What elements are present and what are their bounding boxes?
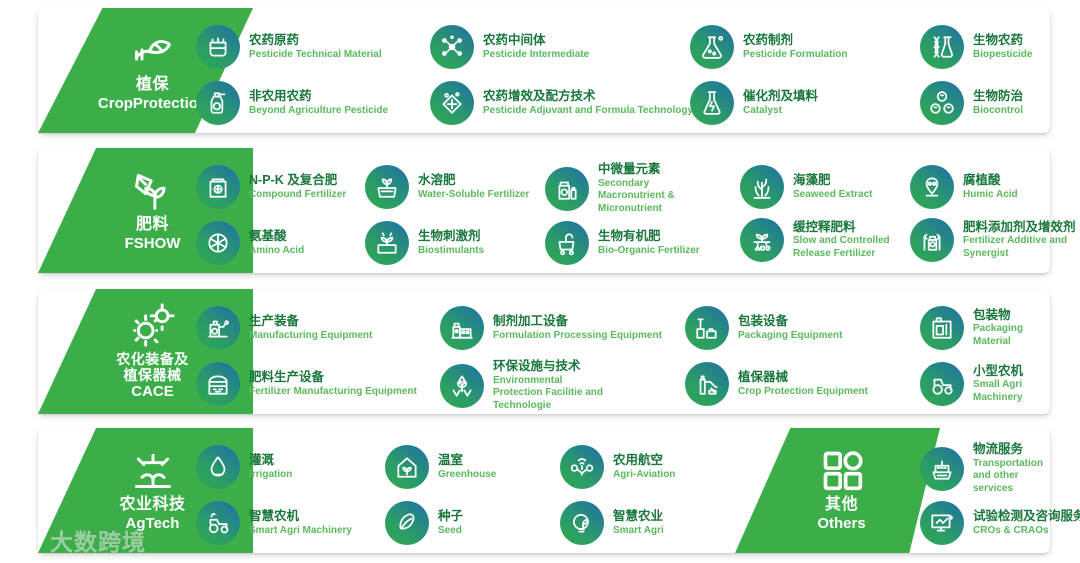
item-text: 生物有机肥Bio-Organic Fertilizer	[598, 229, 700, 257]
category-item[interactable]: 肥料添加剂及增效剂Fertilizer Additive and Synergi…	[910, 218, 1076, 262]
category-name-en: CACE	[131, 383, 174, 401]
category-row: 农业科技AgTech其他Others灌溉Irrigation温室Greenhou…	[0, 428, 1080, 553]
item-label-en: Biostimulants	[418, 245, 484, 258]
slow-release-icon	[740, 218, 784, 262]
processing-plant-icon	[440, 306, 484, 350]
item-label-cn: 农用航空	[613, 453, 675, 469]
row-card: 农业科技AgTech其他Others灌溉Irrigation温室Greenhou…	[38, 428, 1050, 553]
organic-cart-icon	[545, 221, 589, 265]
row-card: 植保CropProtection农药原药Pesticide Technical …	[38, 8, 1050, 133]
flask-icon	[690, 25, 734, 69]
category-name-cn: 农化装备及	[116, 351, 189, 367]
item-label-en: Amino Acid	[249, 245, 304, 258]
item-label-cn: 肥料添加剂及增效剂	[963, 220, 1076, 236]
item-text: 肥料添加剂及增效剂Fertilizer Additive and Synergi…	[963, 220, 1076, 261]
item-label-en: Smart Agri	[613, 525, 664, 538]
beaker-pesticide-icon	[196, 25, 240, 69]
category-name-en: CropProtection	[98, 95, 207, 113]
fertilizer-plant-icon	[196, 362, 240, 406]
category-item[interactable]: 小型农机Small Agri Machinery	[920, 362, 1050, 406]
category-item[interactable]: 农用航空Agri-Aviation	[560, 445, 675, 489]
item-label-cn: N-P-K 及复合肥	[249, 173, 346, 189]
gears-icon	[131, 303, 175, 347]
item-text: 生产装备Manufacturing Equipment	[249, 314, 372, 342]
category-item[interactable]: 缓控释肥料Slow and Controlled Release Fertili…	[740, 218, 911, 262]
item-text: 试验检测及咨询服务CROs & CRAOs	[973, 509, 1080, 537]
item-label-en: Environmental Protection Facilitie and T…	[493, 375, 611, 413]
item-text: 氨基酸Amino Acid	[249, 229, 304, 257]
smart-tractor-icon	[196, 501, 240, 545]
sprayer-icon	[685, 362, 729, 406]
item-text: 生物农药Biopesticide	[973, 33, 1032, 61]
item-text: 海藻肥Seaweed Extract	[793, 173, 873, 201]
row-card: 农化装备及植保器械CACE生产装备Manufacturing Equipment…	[38, 289, 1050, 414]
category-item[interactable]: 生物防治Biocontrol	[920, 81, 1023, 125]
item-text: 包装设备Packaging Equipment	[738, 314, 842, 342]
item-text: 种子Seed	[438, 509, 463, 537]
category-item[interactable]: 腐植酸Humic Acid	[910, 165, 1018, 209]
packaging-material-icon	[920, 306, 964, 350]
item-text: 农药增效及配方技术Pesticide Adjuvant and Formula …	[483, 89, 693, 117]
item-label-en: Seaweed Extract	[793, 189, 873, 202]
item-label-cn: 生物防治	[973, 89, 1023, 105]
category-item[interactable]: 植保器械Crop Protection Equipment	[685, 362, 868, 406]
item-text: 制剂加工设备Formulation Processing Equipment	[493, 314, 662, 342]
additive-icon	[910, 218, 954, 262]
item-label-cn: 环保设施与技术	[493, 359, 611, 375]
category-item[interactable]: 农药制剂Pesticide Formulation	[690, 25, 847, 69]
category-item[interactable]: 生物有机肥Bio-Organic Fertilizer	[545, 221, 700, 265]
item-text: 灌溉Irrigation	[249, 453, 292, 481]
testing-screen-icon	[920, 501, 964, 545]
item-label-cn: 试验检测及咨询服务	[973, 509, 1080, 525]
category-name-en: AgTech	[126, 515, 180, 533]
category-item[interactable]: 海藻肥Seaweed Extract	[740, 165, 873, 209]
manufacturing-icon	[196, 306, 240, 350]
category-item[interactable]: 温室Greenhouse	[385, 445, 496, 489]
item-label-cn: 农药原药	[249, 33, 382, 49]
item-label-cn: 氨基酸	[249, 229, 304, 245]
item-label-cn: 小型农机	[973, 364, 1050, 380]
category-item[interactable]: 灌溉Irrigation	[196, 445, 292, 489]
category-item[interactable]: 包装设备Packaging Equipment	[685, 306, 842, 350]
leaf-in-hand-icon	[131, 28, 175, 72]
item-label-cn: 肥料生产设备	[249, 370, 417, 386]
item-label-en: Fertilizer Manufacturing Equipment	[249, 386, 417, 399]
item-label-cn: 中微量元素	[598, 162, 716, 178]
molecule-icon	[430, 25, 474, 69]
item-label-en: Secondary Macronutrient & Micronutrient	[598, 178, 716, 216]
ship-icon	[920, 447, 964, 491]
item-label-cn: 腐植酸	[963, 173, 1018, 189]
category-item[interactable]: 物流服务Transportation and other services	[920, 442, 1050, 495]
item-text: 缓控释肥料Slow and Controlled Release Fertili…	[793, 220, 911, 261]
item-label-cn: 制剂加工设备	[493, 314, 662, 330]
item-label-cn: 水溶肥	[418, 173, 529, 189]
item-label-en: Pesticide Intermediate	[483, 49, 589, 62]
item-label-en: CROs & CRAOs	[973, 525, 1080, 538]
item-label-en: Pesticide Technical Material	[249, 49, 382, 62]
conical-flask-icon	[690, 81, 734, 125]
others-panel[interactable]: 其他Others	[735, 428, 940, 553]
category-item[interactable]: 生物刺激剂Biostimulants	[365, 221, 484, 265]
category-item[interactable]: 智慧农业Smart Agri	[560, 501, 664, 545]
item-label-cn: 包装设备	[738, 314, 842, 330]
item-text: N-P-K 及复合肥Compound Fertilizer	[249, 173, 346, 201]
item-label-cn: 智慧农机	[249, 509, 352, 525]
item-label-en: Greenhouse	[438, 469, 496, 482]
seed-icon	[385, 501, 429, 545]
item-text: 环保设施与技术Environmental Protection Faciliti…	[493, 359, 611, 412]
water-soluble-icon	[365, 165, 409, 209]
others-name-cn: 其他	[825, 496, 858, 514]
item-label-en: Manufacturing Equipment	[249, 330, 372, 343]
category-name-cn: 农业科技	[119, 496, 185, 514]
category-item[interactable]: 制剂加工设备Formulation Processing Equipment	[440, 306, 662, 350]
item-label-cn: 温室	[438, 453, 496, 469]
item-text: 小型农机Small Agri Machinery	[973, 364, 1050, 405]
category-row: 植保CropProtection农药原药Pesticide Technical …	[0, 8, 1080, 133]
item-label-en: Pesticide Formulation	[743, 49, 847, 62]
item-label-cn: 包装物	[973, 308, 1050, 324]
item-label-cn: 物流服务	[973, 442, 1050, 458]
category-name-cn-2: 植保器械	[124, 367, 182, 383]
item-label-en: Humic Acid	[963, 189, 1018, 202]
greenhouse-icon	[385, 445, 429, 489]
agtech-icon	[131, 448, 175, 492]
category-item[interactable]: 肥料生产设备Fertilizer Manufacturing Equipment	[196, 362, 417, 406]
item-label-en: Water-Soluble Fertilizer	[418, 189, 529, 202]
item-text: 非农用农药Beyond Agriculture Pesticide	[249, 89, 388, 117]
item-text: 温室Greenhouse	[438, 453, 496, 481]
category-item[interactable]: 试验检测及咨询服务CROs & CRAOs	[920, 501, 1080, 545]
seaweed-icon	[740, 165, 784, 209]
others-name-en: Others	[817, 515, 865, 533]
item-text: 肥料生产设备Fertilizer Manufacturing Equipment	[249, 370, 417, 398]
category-row: 农化装备及植保器械CACE生产装备Manufacturing Equipment…	[0, 289, 1080, 414]
item-text: 生物刺激剂Biostimulants	[418, 229, 484, 257]
item-label-en: Bio-Organic Fertilizer	[598, 245, 700, 258]
category-name-en: FSHOW	[125, 235, 181, 253]
category-board: 植保CropProtection农药原药Pesticide Technical …	[0, 0, 1080, 563]
packaging-machine-icon	[685, 306, 729, 350]
item-text: 智慧农业Smart Agri	[613, 509, 664, 537]
item-label-en: Transportation and other services	[973, 458, 1050, 496]
item-label-cn: 农药增效及配方技术	[483, 89, 693, 105]
category-item[interactable]: 氨基酸Amino Acid	[196, 221, 304, 265]
item-label-en: Packaging Equipment	[738, 330, 842, 343]
category-item[interactable]: 农药中间体Pesticide Intermediate	[430, 25, 589, 69]
item-label-en: Small Agri Machinery	[973, 379, 1050, 404]
category-item[interactable]: 环保设施与技术Environmental Protection Faciliti…	[440, 359, 611, 412]
recycle-leaf-icon	[440, 364, 484, 408]
item-label-cn: 农药中间体	[483, 33, 589, 49]
category-item[interactable]: 非农用农药Beyond Agriculture Pesticide	[196, 81, 388, 125]
category-name-cn: 肥料	[136, 216, 169, 234]
drone-icon	[560, 445, 604, 489]
item-label-en: Irrigation	[249, 469, 292, 482]
item-label-cn: 生物刺激剂	[418, 229, 484, 245]
squares-grid-icon	[820, 448, 864, 492]
category-item[interactable]: 催化剂及填料Catalyst	[690, 81, 818, 125]
row-card: 肥料FSHOWN-P-K 及复合肥Compound Fertilizer水溶肥W…	[38, 148, 1050, 273]
item-text: 水溶肥Water-Soluble Fertilizer	[418, 173, 529, 201]
category-item[interactable]: 农药增效及配方技术Pesticide Adjuvant and Formula …	[430, 81, 693, 125]
item-label-en: Fertilizer Additive and Synergist	[963, 235, 1076, 260]
category-item[interactable]: 生产装备Manufacturing Equipment	[196, 306, 372, 350]
item-text: 农药原药Pesticide Technical Material	[249, 33, 382, 61]
item-text: 农药制剂Pesticide Formulation	[743, 33, 847, 61]
smart-agri-icon	[560, 501, 604, 545]
amino-acid-icon	[196, 221, 240, 265]
item-label-en: Beyond Agriculture Pesticide	[249, 105, 388, 118]
item-label-cn: 生产装备	[249, 314, 372, 330]
item-label-cn: 海藻肥	[793, 173, 873, 189]
item-label-cn: 生物有机肥	[598, 229, 700, 245]
category-item[interactable]: 种子Seed	[385, 501, 463, 545]
category-item[interactable]: 包装物Packaging Material	[920, 306, 1050, 350]
item-text: 农药中间体Pesticide Intermediate	[483, 33, 589, 61]
biocontrol-icon	[920, 81, 964, 125]
item-text: 智慧农机Smart Agri Machinery	[249, 509, 352, 537]
item-label-en: Formulation Processing Equipment	[493, 330, 662, 343]
item-label-en: Packaging Material	[973, 323, 1050, 348]
category-item[interactable]: N-P-K 及复合肥Compound Fertilizer	[196, 165, 346, 209]
item-label-en: Slow and Controlled Release Fertilizer	[793, 235, 911, 260]
fertilizer-bag-icon	[196, 165, 240, 209]
item-label-cn: 催化剂及填料	[743, 89, 818, 105]
micronutrient-icon	[545, 167, 589, 211]
item-text: 腐植酸Humic Acid	[963, 173, 1018, 201]
category-item[interactable]: 农药原药Pesticide Technical Material	[196, 25, 382, 69]
item-text: 植保器械Crop Protection Equipment	[738, 370, 868, 398]
category-item[interactable]: 水溶肥Water-Soluble Fertilizer	[365, 165, 529, 209]
item-text: 包装物Packaging Material	[973, 308, 1050, 349]
item-label-cn: 灌溉	[249, 453, 292, 469]
item-label-cn: 种子	[438, 509, 463, 525]
fertilizer-sprinkle-icon	[131, 168, 175, 212]
tractor-icon	[920, 362, 964, 406]
item-text: 生物防治Biocontrol	[973, 89, 1023, 117]
item-label-cn: 植保器械	[738, 370, 868, 386]
item-label-en: Biocontrol	[973, 105, 1023, 118]
item-label-en: Catalyst	[743, 105, 818, 118]
formula-icon	[430, 81, 474, 125]
item-label-cn: 非农用农药	[249, 89, 388, 105]
item-label-en: Smart Agri Machinery	[249, 525, 352, 538]
humic-acid-icon	[910, 165, 954, 209]
item-label-en: Biopesticide	[973, 49, 1032, 62]
item-text: 农用航空Agri-Aviation	[613, 453, 675, 481]
category-item[interactable]: 中微量元素Secondary Macronutrient & Micronutr…	[545, 162, 716, 215]
item-text: 物流服务Transportation and other services	[973, 442, 1050, 495]
item-text: 中微量元素Secondary Macronutrient & Micronutr…	[598, 162, 716, 215]
item-label-en: Compound Fertilizer	[249, 189, 346, 202]
item-label-en: Pesticide Adjuvant and Formula Technolog…	[483, 105, 693, 118]
item-label-cn: 缓控释肥料	[793, 220, 911, 236]
spray-bottle-icon	[196, 81, 240, 125]
category-row: 肥料FSHOWN-P-K 及复合肥Compound Fertilizer水溶肥W…	[0, 148, 1080, 273]
biostimulant-icon	[365, 221, 409, 265]
item-label-en: Seed	[438, 525, 463, 538]
category-item[interactable]: 生物农药Biopesticide	[920, 25, 1032, 69]
category-name-cn: 植保	[136, 76, 169, 94]
item-text: 催化剂及填料Catalyst	[743, 89, 818, 117]
dna-flask-icon	[920, 25, 964, 69]
item-label-en: Crop Protection Equipment	[738, 386, 868, 399]
item-label-cn: 生物农药	[973, 33, 1032, 49]
category-item[interactable]: 智慧农机Smart Agri Machinery	[196, 501, 352, 545]
water-drop-icon	[196, 445, 240, 489]
item-label-cn: 智慧农业	[613, 509, 664, 525]
item-label-cn: 农药制剂	[743, 33, 847, 49]
item-label-en: Agri-Aviation	[613, 469, 675, 482]
